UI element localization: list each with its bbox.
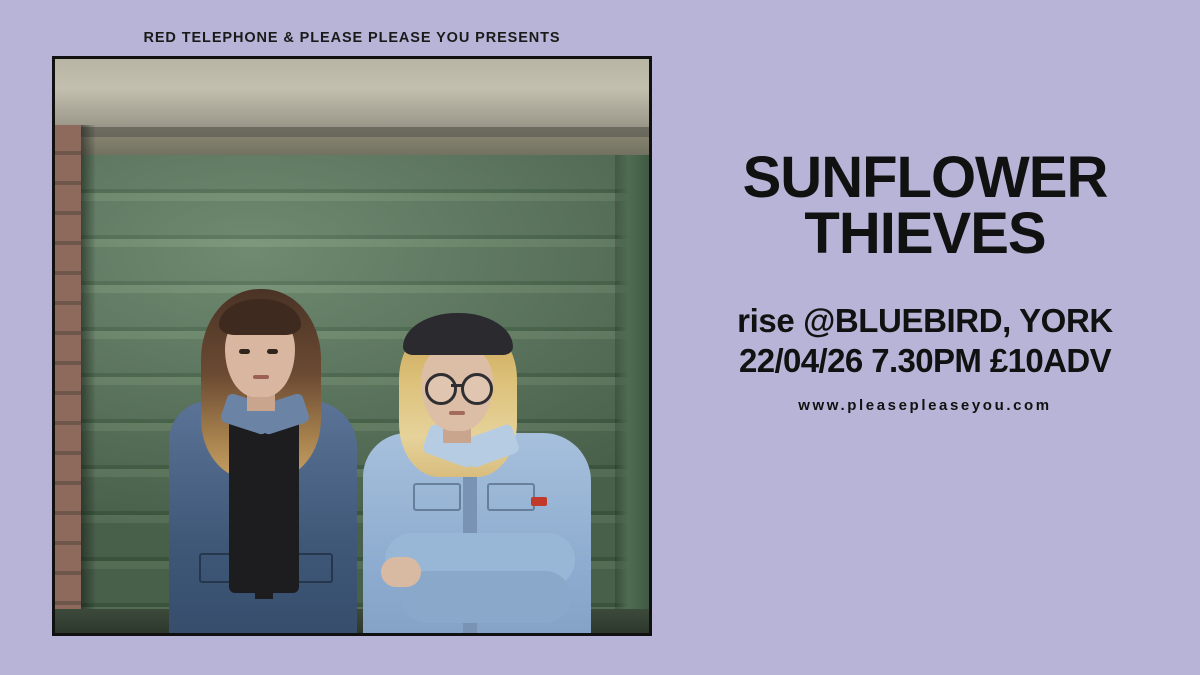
figure-right-arm-lower xyxy=(401,571,571,623)
venue-name: @BLUEBIRD, YORK xyxy=(803,302,1113,339)
figure-right-glasses-right-lens xyxy=(461,373,493,405)
figure-right-glasses-bridge xyxy=(451,384,463,387)
venue-line: rise @BLUEBIRD, YORK xyxy=(690,301,1160,341)
photo-door-right-post xyxy=(615,155,649,633)
photo-concrete-lintel xyxy=(55,59,649,137)
artist-name-line-1: SUNFLOWER xyxy=(743,145,1108,210)
figure-right-pocket-left xyxy=(413,483,461,511)
artist-name: SUNFLOWER THIEVES xyxy=(690,150,1160,263)
poster-text-column: SUNFLOWER THIEVES rise @BLUEBIRD, YORK 2… xyxy=(690,150,1160,414)
figure-right-beanie xyxy=(403,313,513,355)
date-time-price: 22/04/26 7.30PM £10ADV xyxy=(690,341,1160,381)
figure-left-mouth xyxy=(253,375,269,379)
photo-brick-shadow xyxy=(81,125,95,633)
figure-right-hand xyxy=(381,557,421,587)
artist-photo xyxy=(55,59,649,633)
figure-right-red-tab xyxy=(531,497,547,506)
venue-prefix: rise xyxy=(737,302,803,339)
photo-figure-right xyxy=(355,307,615,633)
figure-right-mouth xyxy=(449,411,465,415)
figure-left-jacket-opening xyxy=(255,413,273,599)
presenter-line: RED TELEPHONE & PLEASE PLEASE YOU PRESEN… xyxy=(52,30,652,46)
website-url[interactable]: www.pleasepleaseyou.com xyxy=(690,397,1160,414)
gig-poster: RED TELEPHONE & PLEASE PLEASE YOU PRESEN… xyxy=(0,0,1200,675)
figure-left-eye-left xyxy=(239,349,250,354)
figure-right-pocket-right xyxy=(487,483,535,511)
artist-photo-frame xyxy=(52,56,652,636)
figure-left-eye-right xyxy=(267,349,278,354)
artist-name-line-2: THIEVES xyxy=(690,206,1160,262)
photo-brick-pillar xyxy=(55,125,81,633)
figure-right-glasses-left-lens xyxy=(425,373,457,405)
